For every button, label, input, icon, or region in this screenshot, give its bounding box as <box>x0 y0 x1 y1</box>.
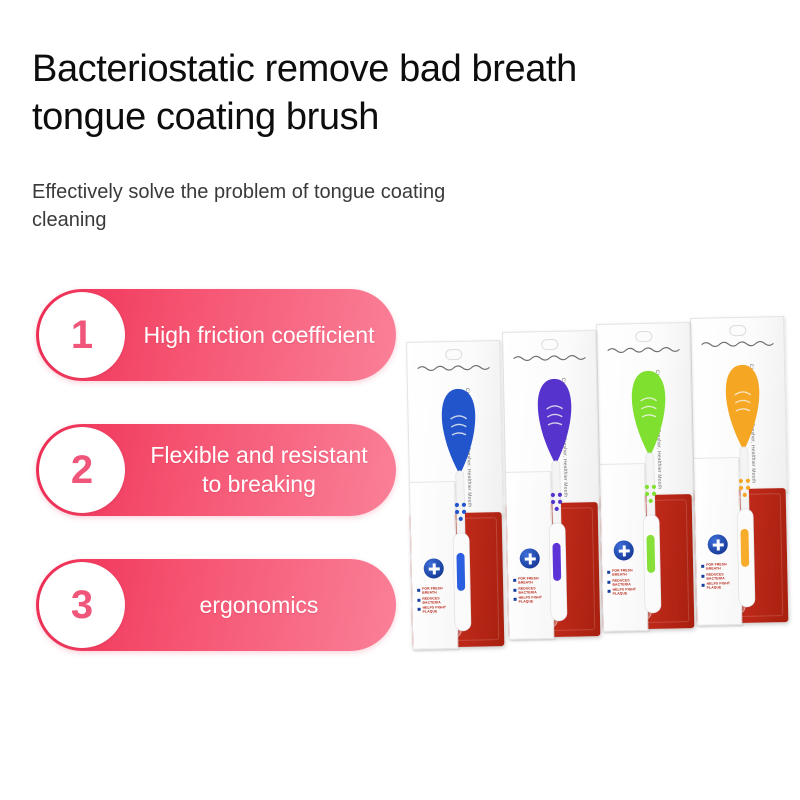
feature-number-badge-2: 2 <box>39 427 125 513</box>
page-subtitle: Effectively solve the problem of tongue … <box>32 178 452 235</box>
scraper-head <box>725 365 760 452</box>
checkbox-icon <box>701 565 704 568</box>
handle-grip-pad <box>740 529 749 567</box>
brand-name: Tongue Cleaner <box>599 471 604 589</box>
feature-label-1: High friction coefficient <box>140 321 378 350</box>
hang-hole <box>729 325 746 336</box>
feature-number-badge-1: 1 <box>39 292 125 378</box>
hang-hole <box>445 349 462 360</box>
checkbox-icon <box>607 571 610 574</box>
tongue-cleaner-tool <box>721 360 768 611</box>
feature-number-3: 3 <box>71 585 93 625</box>
hang-hole <box>635 331 652 342</box>
tongue-cleaner-tool <box>533 374 580 625</box>
feature-number-2: 2 <box>71 450 93 490</box>
feature-label-3: ergonomics <box>140 591 378 620</box>
feature-item-1: 1 High friction coefficient <box>36 289 396 381</box>
checkbox-icon <box>607 580 610 583</box>
checkbox-icon <box>513 588 516 591</box>
page-title: Bacteriostatic remove bad breath tongue … <box>32 46 672 142</box>
checkbox-icon <box>417 589 420 592</box>
scraper-head <box>631 371 666 458</box>
checkbox-icon <box>417 598 420 601</box>
tear-line-icon <box>701 339 773 349</box>
product-package-purple: Clean Your Tongue for a Fresher, Healthi… <box>502 330 600 632</box>
checkbox-icon <box>418 608 421 611</box>
product-package-orange: Clean Your Tongue for a Fresher, Healthi… <box>690 316 788 618</box>
tear-line-icon <box>417 363 489 373</box>
product-photo: Clean Your Tongue for a Fresher, Healthi… <box>398 318 790 638</box>
feature-item-3: 3 ergonomics <box>36 559 396 651</box>
tear-line-icon <box>513 353 585 363</box>
tongue-cleaner-tool <box>627 366 674 617</box>
product-package-green: Clean Your Tongue for a Fresher, Healthi… <box>596 322 694 624</box>
tear-line-icon <box>607 345 679 355</box>
checkbox-icon <box>513 579 516 582</box>
brand-name: Tongue Cleaner <box>693 465 698 583</box>
checkbox-icon <box>514 598 517 601</box>
checkbox-icon <box>608 590 611 593</box>
feature-number-badge-3: 3 <box>39 562 125 648</box>
handle-grip-pad <box>456 553 465 591</box>
brand-name: Tongue Cleaner <box>409 489 414 607</box>
brand-name: Tongue Cleaner <box>505 479 510 597</box>
hang-hole <box>541 339 558 350</box>
handle-grip-pad <box>552 543 561 581</box>
tongue-cleaner-tool <box>437 384 484 635</box>
handle-grip-pad <box>646 535 655 573</box>
scraper-head <box>537 379 572 466</box>
feature-label-2: Flexible and resistant to breaking <box>140 441 378 498</box>
feature-number-1: 1 <box>71 315 93 355</box>
feature-item-2: 2 Flexible and resistant to breaking <box>36 424 396 516</box>
product-package-blue: Clean Your Tongue for a Fresher, Healthi… <box>406 340 504 642</box>
scraper-head <box>441 389 476 476</box>
checkbox-icon <box>701 574 704 577</box>
feature-list: 1 High friction coefficient 2 Flexible a… <box>36 289 396 694</box>
checkbox-icon <box>702 584 705 587</box>
